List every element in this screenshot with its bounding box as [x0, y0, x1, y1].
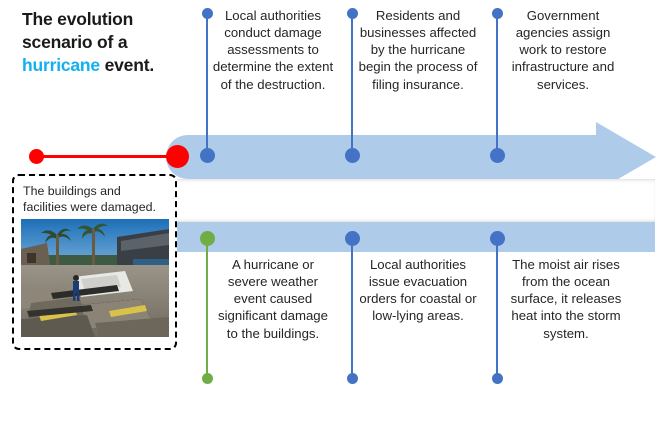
connector-stem-top-1: [206, 18, 208, 158]
step-text-bottom-2: Local authorities issue evacuation order…: [357, 256, 479, 325]
node-top-1[interactable]: [200, 148, 215, 163]
connector-stem-bottom-2: [351, 238, 353, 383]
connector-stem-top-2: [351, 18, 353, 158]
title-line-3-tail: event.: [100, 55, 154, 75]
node-bottom-1-cap: [202, 373, 213, 384]
connector-stem-bottom-3: [496, 238, 498, 383]
timeline-band-bottom: [166, 222, 655, 252]
node-bottom-3-cap: [492, 373, 503, 384]
node-bottom-2-cap: [347, 373, 358, 384]
timeline-band-top: [166, 135, 602, 179]
step-text-top-1: Local authorities conduct damage assessm…: [212, 7, 334, 93]
connector-stem-bottom-1: [206, 238, 208, 383]
step-text-bottom-3: The moist air rises from the ocean surfa…: [502, 256, 630, 342]
annotation-dot-end: [166, 145, 189, 168]
node-bottom-3[interactable]: [490, 231, 505, 246]
node-bottom-2[interactable]: [345, 231, 360, 246]
title-line-1: The evolution: [22, 9, 133, 29]
callout-box: The buildings and facilities were damage…: [12, 174, 177, 350]
timeline-inner-panel: [166, 179, 655, 222]
connector-stem-top-3: [496, 18, 498, 158]
page-title: The evolution scenario of a hurricane ev…: [22, 8, 192, 77]
step-text-top-3: Government agencies assign work to resto…: [502, 7, 624, 93]
annotation-dot-start: [29, 149, 44, 164]
title-line-2: scenario of a: [22, 32, 127, 52]
node-bottom-1[interactable]: [200, 231, 215, 246]
hurricane-damage-photo: [21, 219, 169, 337]
callout-caption: The buildings and facilities were damage…: [23, 183, 168, 215]
step-text-bottom-1: A hurricane or severe weather event caus…: [212, 256, 334, 342]
node-top-3[interactable]: [490, 148, 505, 163]
slide-canvas: The evolution scenario of a hurricane ev…: [0, 0, 672, 421]
annotation-line: [38, 155, 178, 158]
step-text-top-2: Residents and businesses affected by the…: [357, 7, 479, 93]
title-highlight-word: hurricane: [22, 55, 100, 75]
node-top-2[interactable]: [345, 148, 360, 163]
